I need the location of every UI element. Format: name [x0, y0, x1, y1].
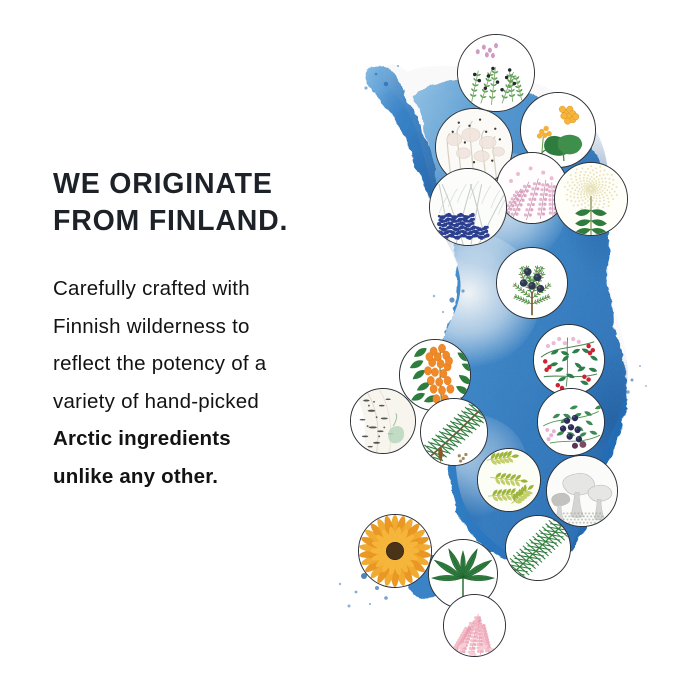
- page-title: WE ORIGINATE FROM FINLAND.: [53, 166, 353, 240]
- juniper-illustration: [497, 248, 567, 318]
- spruce-branch-medallion: [505, 515, 571, 581]
- birch-bark-medallion: [350, 388, 416, 454]
- rowan-leaf-medallion: [477, 448, 541, 512]
- lingonberry-medallion: [533, 324, 605, 396]
- spruce-illustration: [506, 516, 570, 580]
- body-copy: Carefully crafted with Finnish wildernes…: [53, 270, 353, 495]
- bilberry-illustration: [538, 389, 604, 455]
- lingonberry-illustration: [534, 325, 604, 395]
- marigold-illustration: [359, 515, 431, 587]
- body-line-5: Arctic ingredients: [53, 420, 353, 458]
- marigold-flower-medallion: [358, 514, 432, 588]
- body-line-1: Carefully crafted with: [53, 270, 353, 308]
- blueberry-grass-illustration: [430, 169, 506, 245]
- copy-block: WE ORIGINATE FROM FINLAND. Carefully cra…: [53, 166, 353, 495]
- juniper-berry-medallion: [496, 247, 568, 319]
- meadowsweet-medallion: [554, 162, 628, 236]
- body-line-3: reflect the potency of a: [53, 345, 353, 383]
- rowan-leaf-illustration: [478, 449, 540, 511]
- body-line-2: Finnish wilderness to: [53, 308, 353, 346]
- pink-fireweed-illustration: [444, 595, 505, 656]
- body-line-6: unlike any other.: [53, 458, 353, 496]
- birch-bark-illustration: [351, 389, 415, 453]
- body-line-4: variety of hand-picked: [53, 383, 353, 421]
- pink-blossom-medallion: [443, 594, 506, 657]
- hero-image: WE ORIGINATE FROM FINLAND. Carefully cra…: [0, 0, 679, 679]
- bilberry-medallion: [537, 388, 605, 456]
- meadowsweet-illustration: [555, 163, 627, 235]
- bilberry-and-grass-medallion: [429, 168, 507, 246]
